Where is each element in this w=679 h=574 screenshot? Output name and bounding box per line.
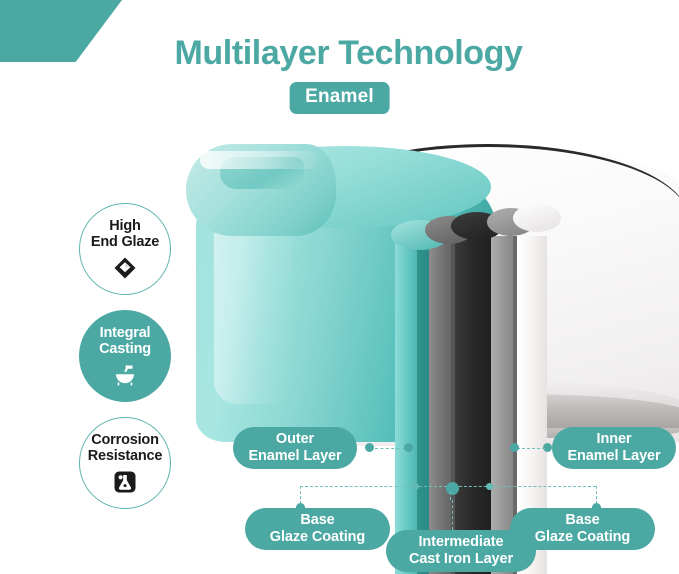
feature-badge-label: High End Glaze	[91, 218, 159, 250]
connector-line-outer-enamel	[375, 448, 405, 449]
callout-base-glaze-coating-left[interactable]: Base Glaze Coating	[245, 508, 390, 550]
connector-pin-cast-iron	[446, 482, 459, 495]
connector-dot-inner-enamel-end	[510, 443, 519, 452]
callout-outer-enamel-layer[interactable]: Outer Enamel Layer	[233, 427, 357, 469]
callout-inner-enamel-layer[interactable]: Inner Enamel Layer	[552, 427, 676, 469]
callout-intermediate-cast-iron-layer[interactable]: Intermediate Cast Iron Layer	[386, 530, 536, 572]
gem-icon	[113, 256, 137, 280]
casting-pour-icon	[113, 363, 137, 387]
connector-line-inner-enamel	[517, 448, 545, 449]
connector-anchor-base-glaze-inner	[486, 483, 493, 490]
connector-anchor-base-glaze-outer	[412, 483, 419, 490]
flask-icon	[113, 470, 137, 494]
feature-badge-label: Integral Casting	[99, 325, 151, 357]
callout-label: Inner Enamel Layer	[567, 431, 660, 465]
connector-drop-cast-iron	[452, 500, 453, 530]
subtitle-badge-enamel: Enamel	[289, 82, 390, 114]
feature-badge-high-end-glaze[interactable]: High End Glaze	[79, 203, 171, 295]
callout-label: Base Glaze Coating	[270, 512, 365, 546]
feature-badge-integral-casting[interactable]: Integral Casting	[79, 310, 171, 402]
connector-drop-base-glaze-right	[596, 486, 597, 504]
page-title: Multilayer Technology	[0, 32, 679, 74]
connector-drop-base-glaze-left	[300, 486, 301, 504]
layer-top-inner-enamel	[513, 204, 561, 232]
callout-label: Outer Enamel Layer	[248, 431, 341, 465]
infographic-canvas: Multilayer Technology Enamel	[0, 0, 679, 574]
feature-badge-label: Corrosion Resistance	[88, 432, 163, 464]
connector-dot-outer-enamel-start	[365, 443, 374, 452]
pot-handle-highlight	[200, 151, 318, 169]
layer-intermediate-cast-iron	[455, 236, 495, 574]
callout-label: Base Glaze Coating	[535, 512, 630, 546]
connector-dot-outer-enamel-end	[404, 443, 413, 452]
feature-badge-corrosion-resistance[interactable]: Corrosion Resistance	[79, 417, 171, 509]
callout-label: Intermediate Cast Iron Layer	[409, 534, 513, 568]
